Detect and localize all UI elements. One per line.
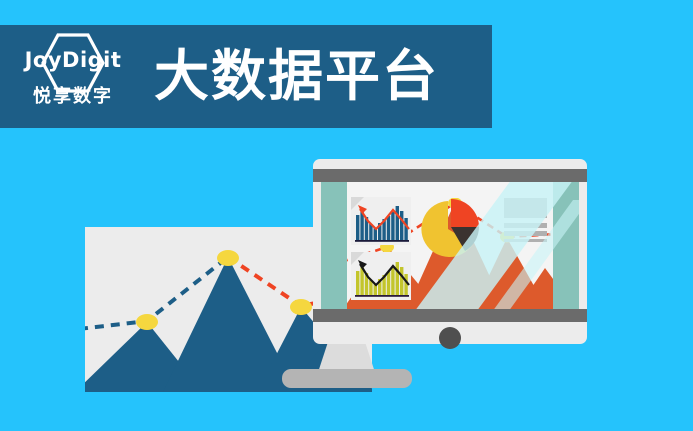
logo-subtitle: 悦享数字 xyxy=(33,82,113,108)
data-marker xyxy=(136,314,158,330)
doc-image-block xyxy=(504,198,547,218)
pie-chart xyxy=(419,198,481,260)
brand-logo: JoyDigit 悦享数字 xyxy=(14,34,132,120)
bar-card-blue xyxy=(351,197,411,245)
monitor-bezel-top xyxy=(313,169,587,182)
doc-text-line xyxy=(504,223,547,228)
document-placeholder xyxy=(504,198,552,242)
screen-side-band-left xyxy=(321,182,347,309)
logo-wordmark: JoyDigit xyxy=(25,48,122,72)
doc-text-line xyxy=(504,239,547,242)
monitor-bezel-bottom xyxy=(313,309,587,322)
monitor-stand-base xyxy=(282,369,412,388)
pie-slice-red xyxy=(451,199,479,227)
axis-line xyxy=(355,240,409,242)
bar-card-olive xyxy=(351,252,411,300)
monitor-screen xyxy=(321,182,579,309)
desktop-monitor xyxy=(313,159,587,344)
axis-line xyxy=(355,295,409,297)
data-marker xyxy=(217,250,239,266)
header-banner: JoyDigit 悦享数字 大数据平台 xyxy=(0,25,492,128)
illustration-canvas: JoyDigit 悦享数字 大数据平台 xyxy=(0,0,693,431)
screen-side-band-right xyxy=(553,182,579,309)
monitor-power-indicator xyxy=(439,327,461,349)
doc-text-line xyxy=(504,231,547,236)
page-title: 大数据平台 xyxy=(154,49,439,104)
data-marker xyxy=(290,299,312,315)
